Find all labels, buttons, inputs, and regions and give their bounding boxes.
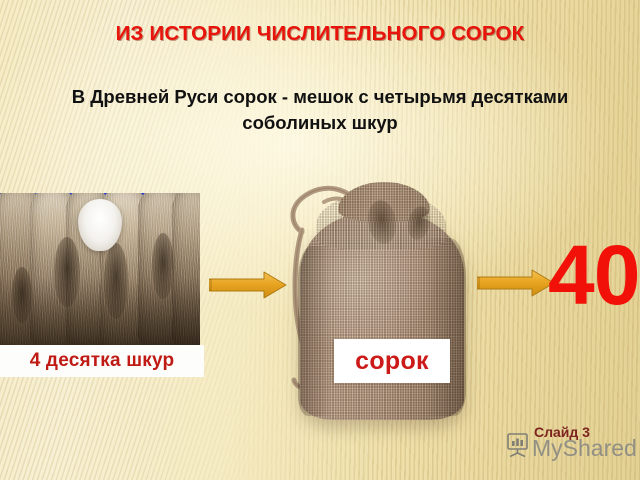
fur-photo-caption: 4 десятка шкур xyxy=(0,345,204,377)
page-title: ИЗ ИСТОРИИ ЧИСЛИТЕЛЬНОГО СОРОК xyxy=(0,22,640,46)
arrow-sack-to-number xyxy=(477,268,555,298)
presentation-chart-icon xyxy=(506,432,530,463)
sack-right-shading xyxy=(426,238,466,416)
slide-number-label: Слайд 3 xyxy=(534,424,590,440)
fur-caption-text: 4 десятка шкур xyxy=(30,350,175,372)
sack-label-text: сорок xyxy=(355,347,429,376)
watermark: MyShared Слайд 3 xyxy=(506,424,636,472)
photo-bottom-shading xyxy=(0,193,200,345)
burlap-sack-image xyxy=(272,176,484,424)
page-subtitle: В Древней Руси сорок - мешок с четырьмя … xyxy=(34,84,606,136)
result-number: 40 xyxy=(548,233,639,317)
sable-pelts-photo xyxy=(0,193,200,345)
slide-canvas: ИЗ ИСТОРИИ ЧИСЛИТЕЛЬНОГО СОРОК В Древней… xyxy=(0,0,640,480)
sack-word-label: сорок xyxy=(334,339,450,383)
sack-left-shading xyxy=(298,246,332,416)
